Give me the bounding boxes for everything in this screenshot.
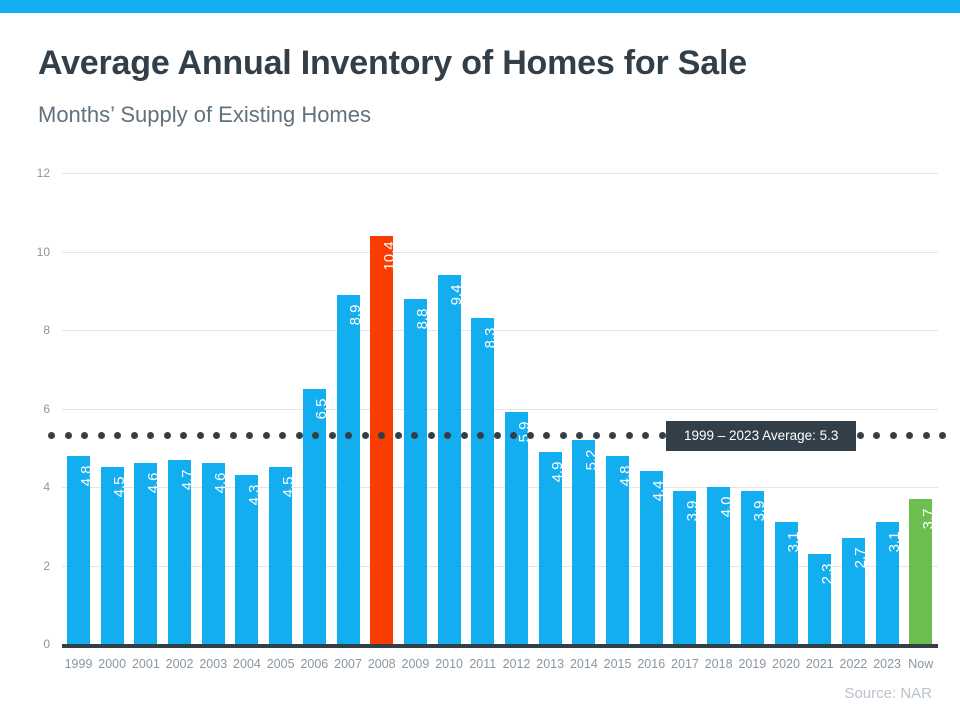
bar-2004[interactable]: 4.3 <box>235 475 258 644</box>
x-tick-label-2008: 2008 <box>365 657 398 671</box>
average-line-dot <box>527 432 534 439</box>
x-tick-label-2007: 2007 <box>332 657 365 671</box>
bar-value-label: 6.5 <box>314 398 329 419</box>
average-line-dot <box>411 432 418 439</box>
average-line-dot <box>626 432 633 439</box>
average-line-dot <box>131 432 138 439</box>
average-line-dot <box>510 432 517 439</box>
bar-slot: 9.4 <box>433 173 466 644</box>
bar-2007[interactable]: 8.9 <box>337 295 360 644</box>
average-line-dot <box>230 432 237 439</box>
average-line-dot <box>428 432 435 439</box>
bar-slot: 4.8 <box>601 173 634 644</box>
average-line-dot <box>345 432 352 439</box>
average-line-dot <box>923 432 930 439</box>
x-tick-label-2003: 2003 <box>197 657 230 671</box>
bar-slot: 8.3 <box>466 173 499 644</box>
chart-plot-area: 024681012 4.84.54.64.74.64.34.56.58.910.… <box>62 173 938 644</box>
bar-value-label: 4.5 <box>112 477 127 498</box>
bar-slot: 4.5 <box>96 173 129 644</box>
bar-2011[interactable]: 8.3 <box>471 318 494 644</box>
bar-2021[interactable]: 2.3 <box>808 554 831 644</box>
x-tick-label-1999: 1999 <box>62 657 95 671</box>
bar-value-label: 4.7 <box>180 469 195 490</box>
bar-value-label: 4.3 <box>247 485 262 506</box>
bar-value-label: 2.7 <box>853 548 868 569</box>
bar-slot: 4.6 <box>129 173 162 644</box>
average-line-dot <box>180 432 187 439</box>
bar-2015[interactable]: 4.8 <box>606 456 629 644</box>
average-line-dot <box>890 432 897 439</box>
x-tick-label-2004: 2004 <box>230 657 263 671</box>
chart-subtitle: Months’ Supply of Existing Homes <box>38 102 371 128</box>
bar-1999[interactable]: 4.8 <box>67 456 90 644</box>
top-accent-bar <box>0 0 960 13</box>
x-tick-label-2017: 2017 <box>668 657 701 671</box>
average-line-dot <box>246 432 253 439</box>
bar-value-label: 3.1 <box>786 532 801 553</box>
bar-2016[interactable]: 4.4 <box>640 471 663 644</box>
x-tick-label-2000: 2000 <box>96 657 129 671</box>
x-tick-label-2015: 2015 <box>601 657 634 671</box>
bar-2013[interactable]: 4.9 <box>539 452 562 644</box>
bar-2005[interactable]: 4.5 <box>269 467 292 644</box>
x-tick-label-2010: 2010 <box>433 657 466 671</box>
x-tick-label-2009: 2009 <box>399 657 432 671</box>
bar-2001[interactable]: 4.6 <box>134 463 157 644</box>
x-tick-label-2016: 2016 <box>635 657 668 671</box>
average-line-dot <box>642 432 649 439</box>
bar-slot: 4.8 <box>62 173 95 644</box>
x-tick-label-2023: 2023 <box>871 657 904 671</box>
baseline-axis <box>62 644 938 648</box>
average-line-dot <box>329 432 336 439</box>
average-line-dot <box>81 432 88 439</box>
average-line-dot <box>461 432 468 439</box>
bar-2020[interactable]: 3.1 <box>775 522 798 644</box>
bar-value-label: 10.4 <box>382 241 397 270</box>
average-line-dot <box>48 432 55 439</box>
average-line-dot <box>609 432 616 439</box>
bar-2002[interactable]: 4.7 <box>168 460 191 644</box>
bar-slot: 4.4 <box>635 173 668 644</box>
bar-slot: 5.2 <box>567 173 600 644</box>
average-line-dot <box>395 432 402 439</box>
bar-slot: 3.1 <box>770 173 803 644</box>
bar-slot: 2.3 <box>803 173 836 644</box>
x-tick-label-2006: 2006 <box>298 657 331 671</box>
bar-value-label: 8.3 <box>483 328 498 349</box>
average-line-dot <box>576 432 583 439</box>
bar-2019[interactable]: 3.9 <box>741 491 764 644</box>
bar-value-label: 4.0 <box>719 497 734 518</box>
y-tick-label: 0 <box>10 637 50 651</box>
x-tick-label-2012: 2012 <box>500 657 533 671</box>
bar-value-label: 4.6 <box>146 473 161 494</box>
bar-slot: 4.0 <box>702 173 735 644</box>
x-tick-label-2021: 2021 <box>803 657 836 671</box>
bar-value-label: 5.2 <box>584 449 599 470</box>
bar-2000[interactable]: 4.5 <box>101 467 124 644</box>
bar-slot: 5.9 <box>500 173 533 644</box>
average-line-dot <box>494 432 501 439</box>
x-tick-label-2019: 2019 <box>736 657 769 671</box>
chart-title: Average Annual Inventory of Homes for Sa… <box>38 44 747 83</box>
average-line-dot <box>312 432 319 439</box>
bar-value-label: 3.9 <box>752 501 767 522</box>
x-tick-label-2001: 2001 <box>129 657 162 671</box>
x-tick-label-2013: 2013 <box>534 657 567 671</box>
x-tick-label-2018: 2018 <box>702 657 735 671</box>
bar-slot: 3.1 <box>871 173 904 644</box>
average-line-dot <box>939 432 946 439</box>
y-tick-label: 4 <box>10 480 50 494</box>
bar-value-label: 3.7 <box>921 508 936 529</box>
average-line-dot <box>444 432 451 439</box>
average-line-dot <box>164 432 171 439</box>
bar-slot: 3.9 <box>736 173 769 644</box>
average-line-dot <box>65 432 72 439</box>
bar-2018[interactable]: 4.0 <box>707 487 730 644</box>
average-line-dot <box>263 432 270 439</box>
bar-slot: 4.9 <box>534 173 567 644</box>
y-tick-label: 2 <box>10 559 50 573</box>
bar-value-label: 3.9 <box>685 501 700 522</box>
average-line-dot <box>906 432 913 439</box>
x-tick-label-2022: 2022 <box>837 657 870 671</box>
bar-2022[interactable]: 2.7 <box>842 538 865 644</box>
average-line-dot <box>362 432 369 439</box>
bar-slot: 4.5 <box>264 173 297 644</box>
bar-value-label: 8.9 <box>348 304 363 325</box>
average-line-dot <box>477 432 484 439</box>
x-tick-label-2014: 2014 <box>567 657 600 671</box>
x-tick-label-2020: 2020 <box>770 657 803 671</box>
bar-slot: 3.7 <box>904 173 937 644</box>
y-tick-label: 6 <box>10 402 50 416</box>
y-tick-label: 10 <box>10 245 50 259</box>
x-tick-label-2005: 2005 <box>264 657 297 671</box>
bar-2003[interactable]: 4.6 <box>202 463 225 644</box>
average-line-dot <box>378 432 385 439</box>
bar-slot: 10.4 <box>365 173 398 644</box>
bar-slot: 8.9 <box>332 173 365 644</box>
average-line-dot <box>147 432 154 439</box>
bar-2008[interactable]: 10.4 <box>370 236 393 644</box>
bar-value-label: 4.8 <box>79 465 94 486</box>
x-tick-label-now: Now <box>904 657 937 671</box>
bar-slot: 8.8 <box>399 173 432 644</box>
average-line-dot <box>560 432 567 439</box>
average-badge: 1999 – 2023 Average: 5.3 <box>666 421 856 451</box>
average-line-dot <box>659 432 666 439</box>
bar-now[interactable]: 3.7 <box>909 499 932 644</box>
average-line-dot <box>197 432 204 439</box>
y-tick-label: 12 <box>10 166 50 180</box>
bar-slot: 4.6 <box>197 173 230 644</box>
bar-2012[interactable]: 5.9 <box>505 412 528 644</box>
x-tick-label-2011: 2011 <box>466 657 499 671</box>
average-line-dot <box>543 432 550 439</box>
bar-value-label: 4.9 <box>550 461 565 482</box>
bar-slot: 4.7 <box>163 173 196 644</box>
bar-value-label: 4.4 <box>651 481 666 502</box>
average-line-dot <box>593 432 600 439</box>
y-tick-label: 8 <box>10 323 50 337</box>
bar-slot: 6.5 <box>298 173 331 644</box>
bar-value-label: 9.4 <box>449 285 464 306</box>
bar-value-label: 4.8 <box>618 465 633 486</box>
average-line-dot <box>296 432 303 439</box>
bar-2006[interactable]: 6.5 <box>303 389 326 644</box>
bar-slot: 2.7 <box>837 173 870 644</box>
bar-value-label: 4.5 <box>281 477 296 498</box>
bar-2023[interactable]: 3.1 <box>876 522 899 644</box>
average-line-dot <box>114 432 121 439</box>
bar-2014[interactable]: 5.2 <box>572 440 595 644</box>
bar-value-label: 3.1 <box>887 532 902 553</box>
average-line-dot <box>279 432 286 439</box>
bar-value-label: 2.3 <box>820 563 835 584</box>
bar-2009[interactable]: 8.8 <box>404 299 427 644</box>
bar-value-label: 4.6 <box>213 473 228 494</box>
bar-slot: 3.9 <box>668 173 701 644</box>
x-tick-label-2002: 2002 <box>163 657 196 671</box>
source-note: Source: NAR <box>844 685 932 702</box>
average-line-dot <box>98 432 105 439</box>
average-line-dot <box>873 432 880 439</box>
bar-value-label: 8.8 <box>415 308 430 329</box>
bar-2017[interactable]: 3.9 <box>673 491 696 644</box>
average-line-dot <box>213 432 220 439</box>
average-line-dot <box>857 432 864 439</box>
bar-2010[interactable]: 9.4 <box>438 275 461 644</box>
bar-slot: 4.3 <box>230 173 263 644</box>
